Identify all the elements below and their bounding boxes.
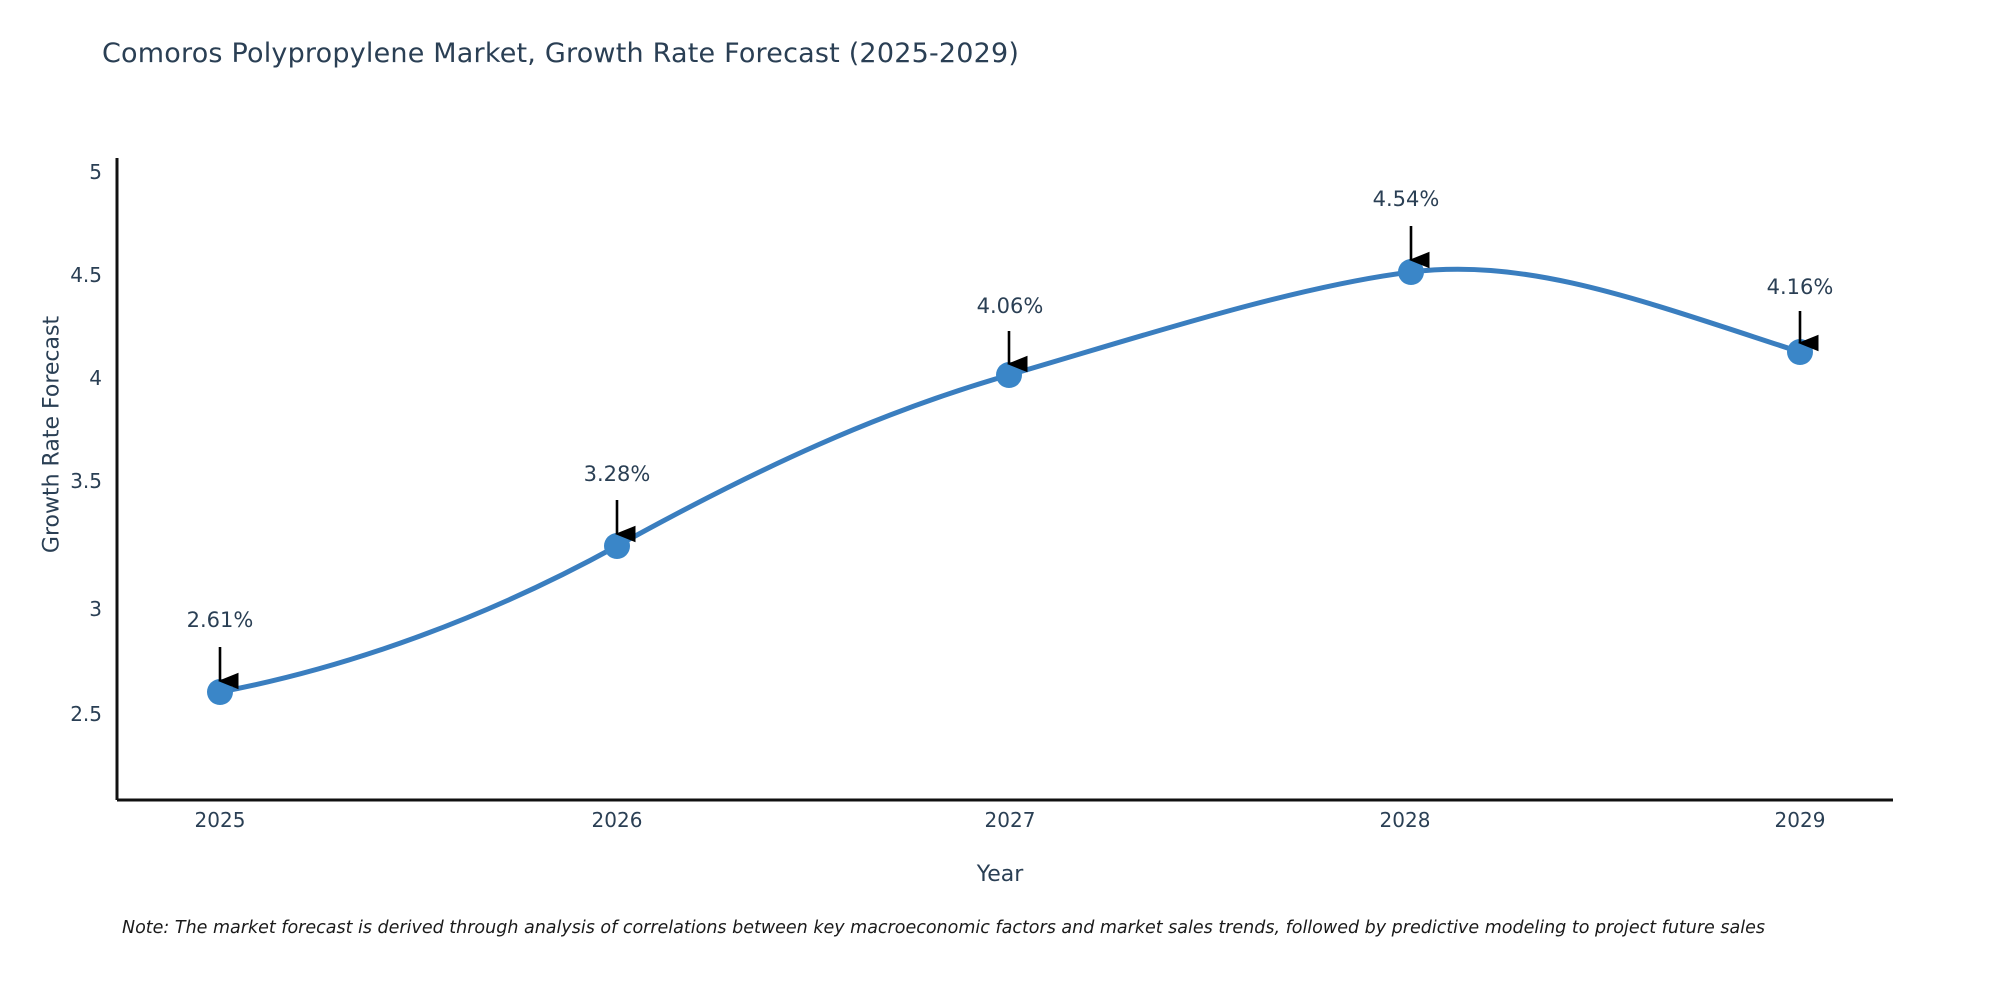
- data-point-2027[interactable]: [996, 362, 1022, 388]
- data-point-2026[interactable]: [604, 533, 630, 559]
- data-point-2025[interactable]: [207, 679, 233, 705]
- data-point-2028[interactable]: [1398, 259, 1424, 285]
- footnote: Note: The market forecast is derived thr…: [122, 918, 1765, 938]
- chart-container: Comoros Polypropylene Market, Growth Rat…: [0, 0, 2000, 1000]
- plot-area: [0, 0, 2000, 1000]
